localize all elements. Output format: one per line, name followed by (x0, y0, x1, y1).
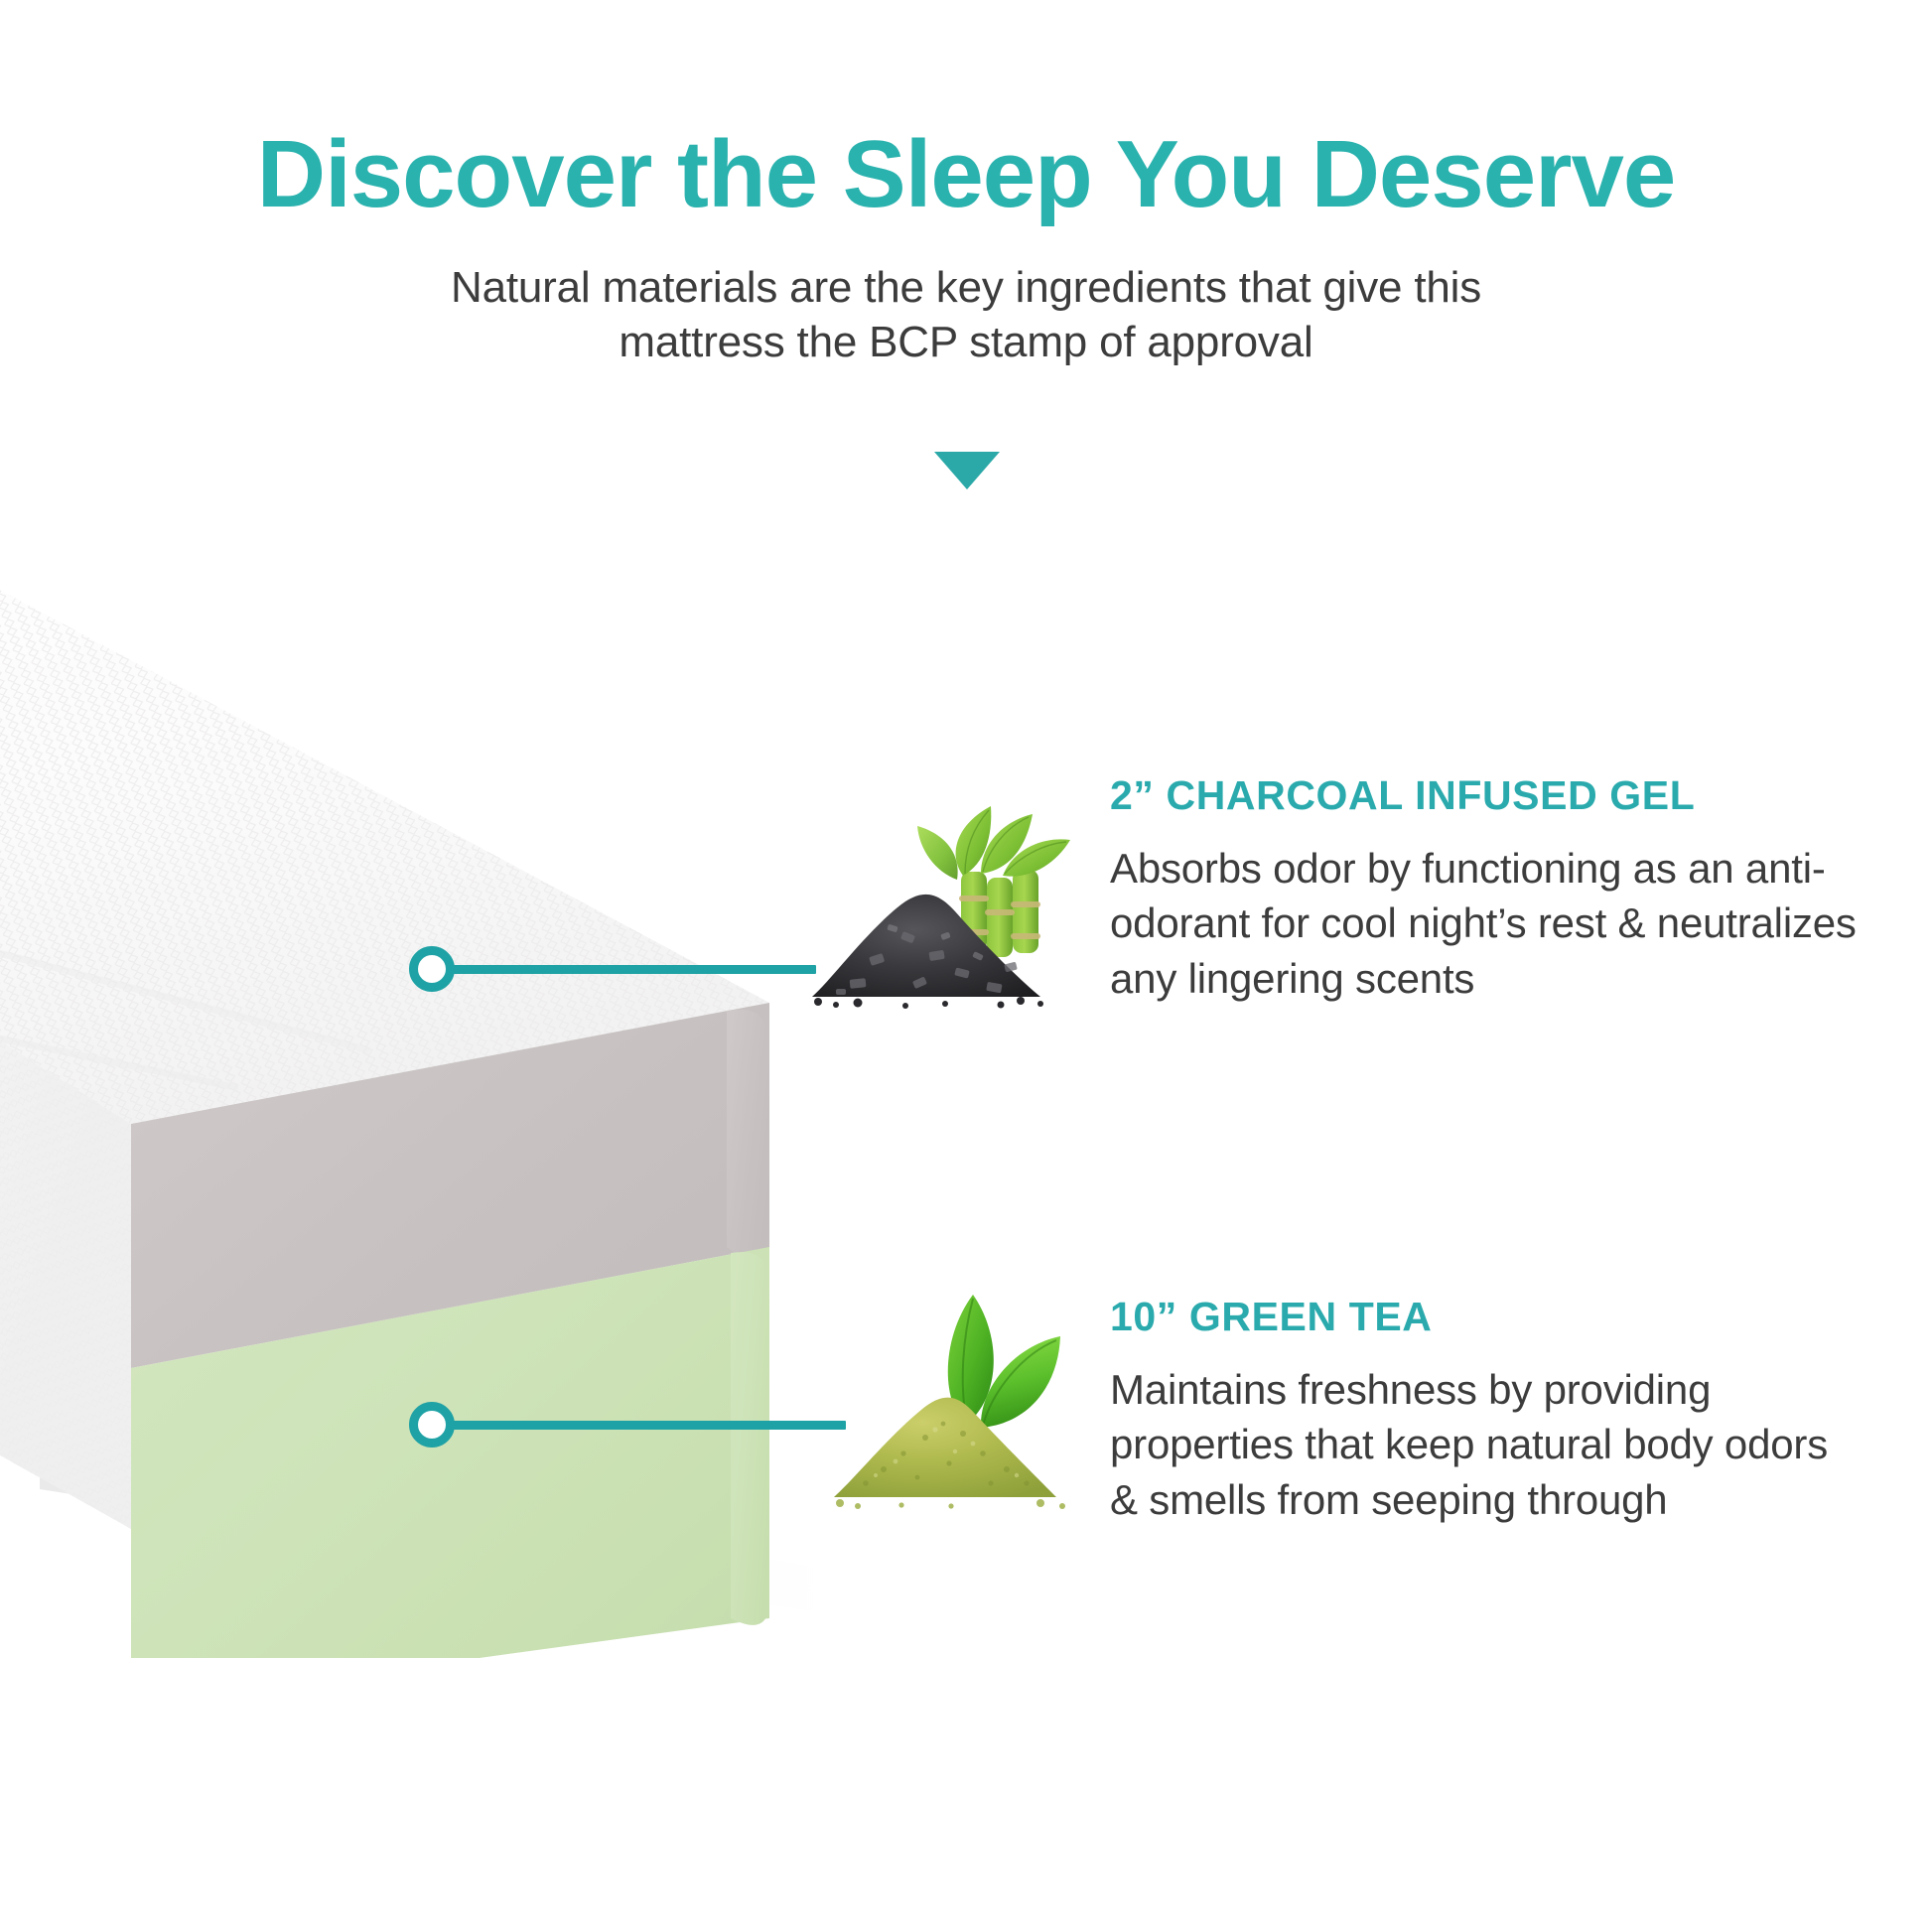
connector-dot-green-tea (409, 1402, 455, 1448)
feature-green-tea-body: Maintains freshness by providing propert… (1110, 1338, 1864, 1527)
header: Discover the Sleep You Deserve Natural m… (0, 0, 1932, 369)
connector-line-green-tea (449, 1421, 846, 1430)
page-subtitle: Natural materials are the key ingredient… (420, 222, 1512, 369)
charcoal-bamboo-icon (806, 784, 1074, 1013)
feature-charcoal-body: Absorbs odor by functioning as an anti-o… (1110, 817, 1864, 1006)
green-tea-powder-leaf-icon (832, 1279, 1086, 1513)
page-title: Discover the Sleep You Deserve (0, 0, 1932, 222)
feature-charcoal-heading: 2” CHARCOAL INFUSED GEL (1110, 774, 1864, 817)
feature-green-tea-heading: 10” GREEN TEA (1110, 1296, 1864, 1338)
feature-green-tea-text-block: 10” GREEN TEA Maintains freshness by pro… (1110, 1296, 1864, 1527)
connector-dot-charcoal (409, 946, 455, 992)
mattress-cutaway-diagram (0, 536, 824, 1658)
feature-charcoal-text-block: 2” CHARCOAL INFUSED GEL Absorbs odor by … (1110, 774, 1864, 1006)
chevron-down-icon (934, 452, 1000, 489)
connector-line-charcoal (449, 965, 816, 974)
